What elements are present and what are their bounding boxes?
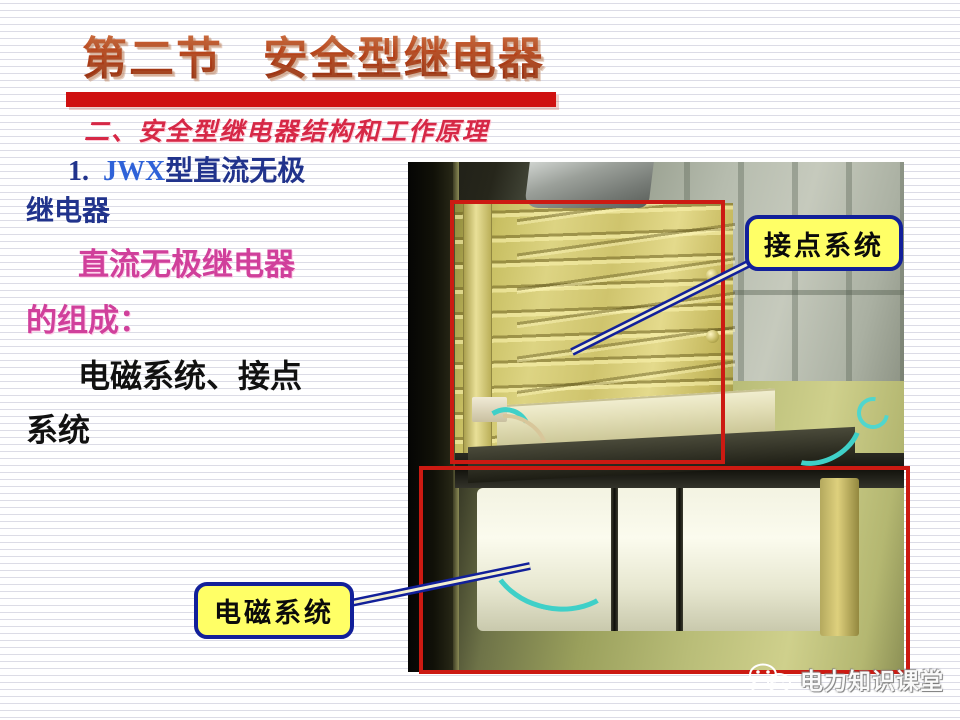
title-underline-bar — [66, 92, 556, 107]
slide-canvas: 第二节 安全型继电器 第二节 安全型继电器 二、安全型继电器结构和工作原理 1.… — [0, 0, 960, 720]
body-line-6: 系统 — [26, 412, 90, 449]
body-line-1: 1. JWX型直流无极 — [68, 156, 305, 188]
body-line-1-rest: 型直流无极 — [165, 156, 305, 187]
body-line-5: 电磁系统、接点 — [78, 358, 302, 395]
body-line-1-code: JWX — [103, 156, 165, 187]
watermark-text: 电力知识课堂 — [800, 662, 944, 696]
callout-electromagnetic-system[interactable]: 电磁系统 — [194, 582, 354, 639]
watermark: 电力知识课堂 — [748, 662, 944, 696]
section-subtitle: 二、安全型继电器结构和工作原理 — [84, 112, 489, 148]
highlight-box-electromagnetic-system — [419, 466, 910, 674]
highlight-box-contact-system — [450, 200, 725, 464]
body-line-3: 直流无极继电器 — [78, 247, 295, 283]
body-line-2: 继电器 — [26, 196, 110, 228]
callout-contact-system[interactable]: 接点系统 — [745, 215, 903, 271]
body-line-1-prefix: 1. — [68, 156, 103, 187]
body-line-4: 的组成： — [26, 303, 150, 339]
wechat-icon — [748, 663, 794, 695]
page-title: 第二节 安全型继电器 — [82, 22, 545, 87]
